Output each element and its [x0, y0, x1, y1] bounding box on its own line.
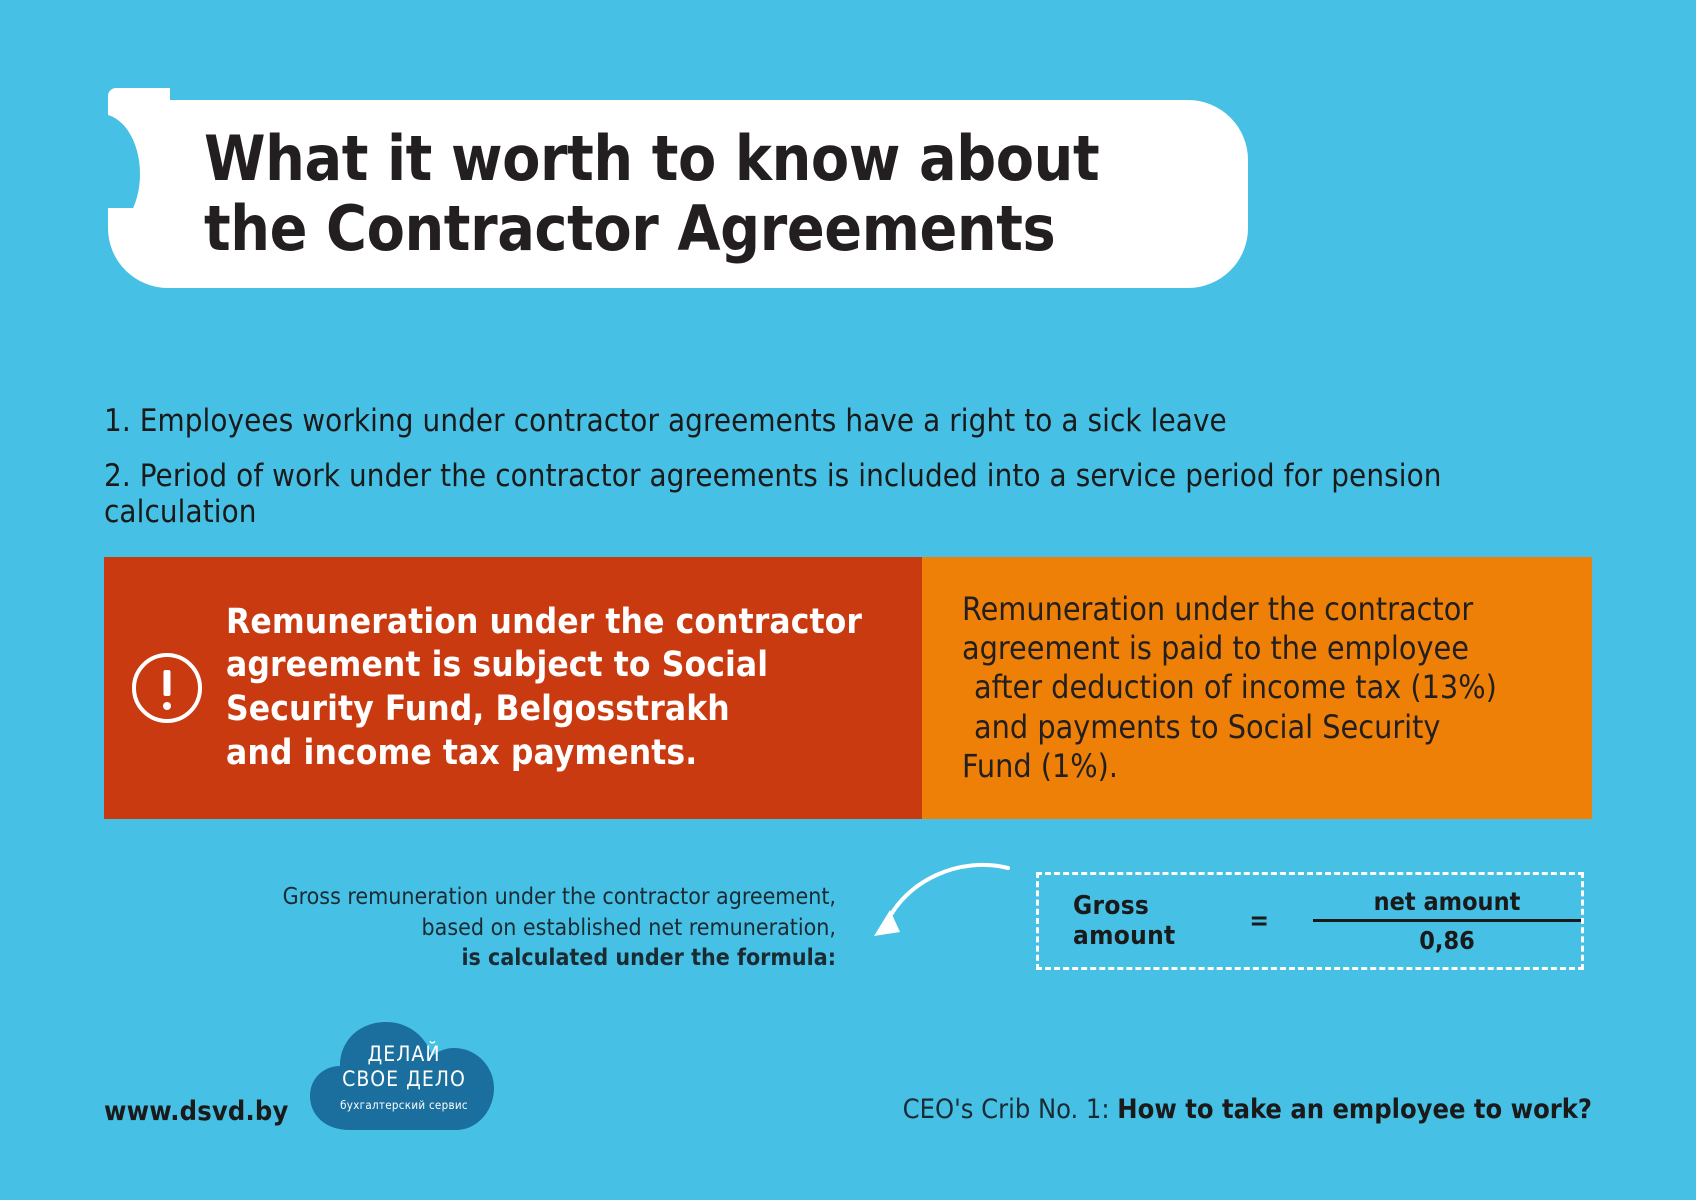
- orange-line-4: and payments to Social Security: [962, 708, 1497, 747]
- title-line-1: What it worth to know about: [204, 124, 1184, 194]
- caption-line-1: Gross remuneration under the contractor …: [216, 882, 836, 913]
- title-line-2: the Contractor Agreements: [204, 194, 1184, 264]
- bubble-tail-icon: [108, 88, 178, 208]
- crib-title: How to take an employee to work?: [1117, 1094, 1592, 1125]
- orange-line-1: Remuneration under the contractor: [962, 590, 1497, 629]
- caption-line-3: is calculated under the formula:: [216, 943, 836, 974]
- red-line-4: and income tax payments.: [226, 732, 862, 776]
- logo-line-2: СВОЕ ДЕЛО: [306, 1067, 502, 1092]
- crib-reference: CEO's Crib No. 1: How to take an employe…: [903, 1094, 1592, 1125]
- formula-section: Gross remuneration under the contractor …: [0, 860, 1696, 990]
- exclamation-circle-icon: [132, 653, 202, 723]
- curved-arrow-icon: [868, 862, 1018, 952]
- callout-red-panel: Remuneration under the contractor agreem…: [104, 557, 922, 819]
- orange-line-5: Fund (1%).: [962, 747, 1497, 786]
- orange-line-2: agreement is paid to the employee: [962, 629, 1497, 668]
- fraction: net amount 0,86: [1313, 887, 1581, 955]
- page-title: What it worth to know about the Contract…: [204, 124, 1184, 264]
- logo-text: ДЕЛАЙ СВОЕ ДЕЛО бухгалтерский сервис: [306, 1042, 502, 1112]
- list-item: 2. Period of work under the contractor a…: [104, 459, 1454, 531]
- callout-bands: Remuneration under the contractor agreem…: [104, 557, 1592, 819]
- fraction-numerator: net amount: [1313, 887, 1581, 919]
- logo-line-1: ДЕЛАЙ: [306, 1042, 502, 1067]
- callout-orange-panel: Remuneration under the contractor agreem…: [922, 557, 1592, 819]
- fraction-denominator: 0,86: [1313, 922, 1581, 955]
- formula-caption: Gross remuneration under the contractor …: [216, 882, 836, 974]
- callout-red-text: Remuneration under the contractor agreem…: [226, 601, 862, 776]
- formula-box: Gross amount = net amount 0,86: [1036, 872, 1584, 970]
- key-points-list: 1. Employees working under contractor ag…: [104, 404, 1454, 550]
- gross-amount-label: Gross amount: [1073, 891, 1207, 951]
- list-item: 1. Employees working under contractor ag…: [104, 404, 1454, 440]
- website-url[interactable]: www.dsvd.by: [104, 1096, 289, 1127]
- red-line-2: agreement is subject to Social: [226, 644, 862, 688]
- caption-line-2: based on established net remuneration,: [216, 913, 836, 944]
- title-speech-bubble: What it worth to know about the Contract…: [108, 88, 1248, 288]
- red-line-1: Remuneration under the contractor: [226, 601, 862, 645]
- logo-tagline: бухгалтерский сервис: [306, 1098, 502, 1112]
- brand-logo[interactable]: ДЕЛАЙ СВОЕ ДЕЛО бухгалтерский сервис: [306, 1018, 502, 1130]
- red-line-3: Security Fund, Belgosstrakh: [226, 688, 862, 732]
- orange-line-3: after deduction of income tax (13%): [962, 668, 1497, 707]
- equals-sign: =: [1249, 906, 1269, 936]
- crib-prefix: CEO's Crib No. 1:: [903, 1094, 1118, 1125]
- callout-orange-text: Remuneration under the contractor agreem…: [962, 590, 1497, 785]
- infographic-poster: What it worth to know about the Contract…: [0, 0, 1696, 1200]
